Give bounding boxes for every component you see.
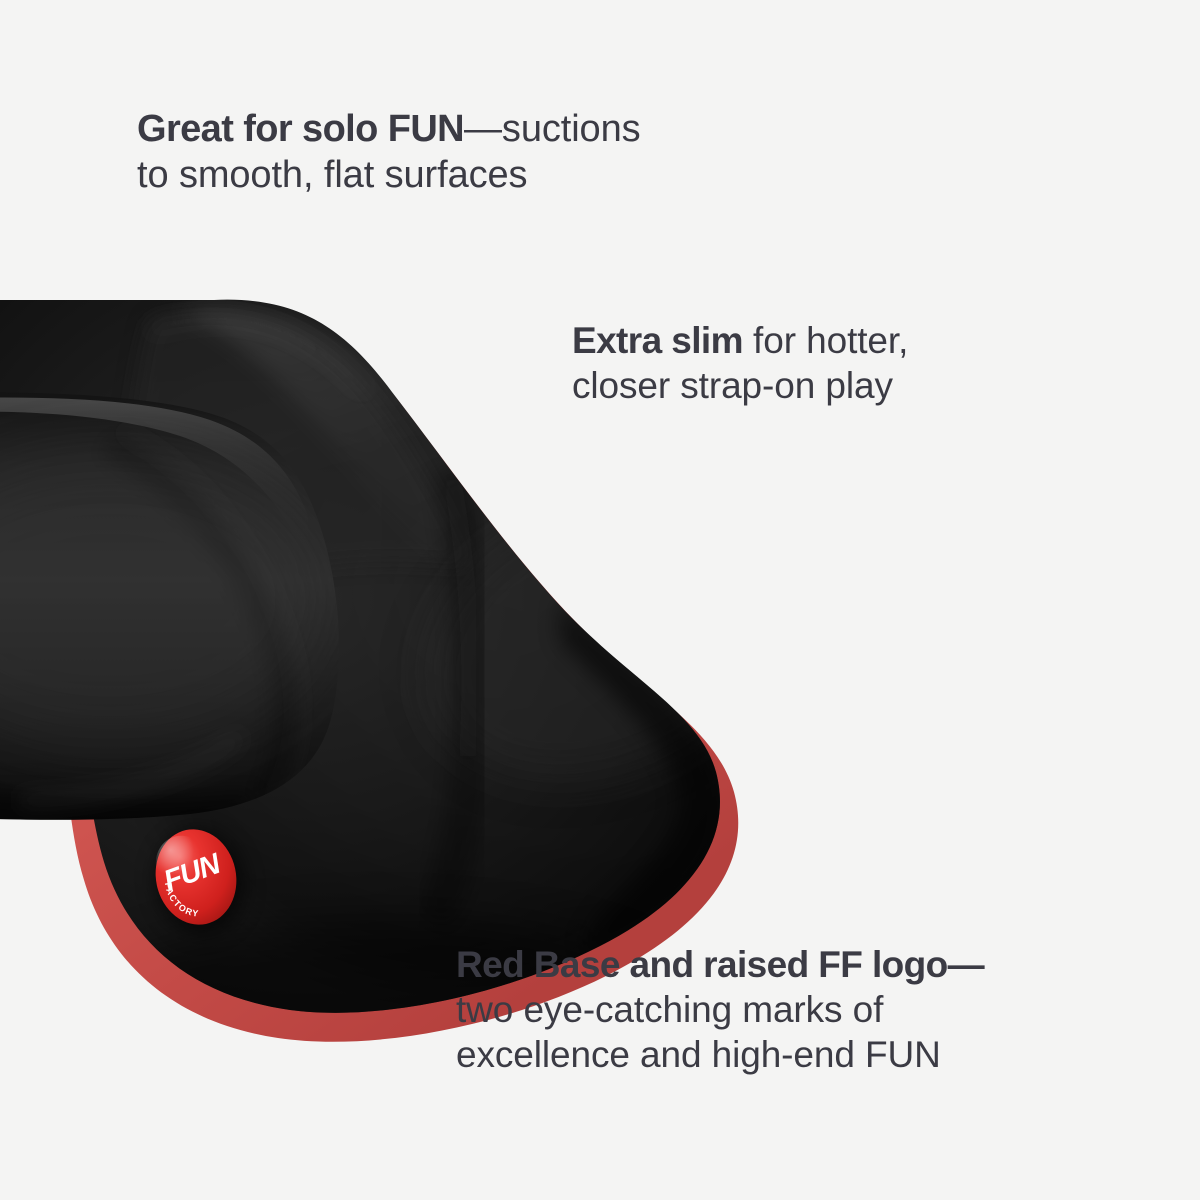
callout-solo-emphasis: Great for solo FUN	[137, 108, 464, 150]
callout-extra-slim: Extra slim for hotter, closer strap-on p…	[572, 318, 908, 408]
callout-logo-line-3: excellence and high-end FUN	[456, 1032, 984, 1077]
callout-solo-line-1-rest: —suctions	[464, 108, 641, 150]
callout-slim-line-2: closer strap-on play	[572, 363, 908, 408]
callout-logo-line-2: two eye-catching marks of	[456, 987, 984, 1032]
callout-solo-fun: Great for solo FUN—suctions to smooth, f…	[137, 106, 641, 199]
callout-solo-line-2: to smooth, flat surfaces	[137, 152, 641, 198]
callout-slim-line-1-rest: for hotter,	[743, 320, 908, 361]
callout-logo-line-1: Red Base and raised FF logo—	[456, 942, 984, 987]
callout-logo-emphasis: Red Base and raised FF logo	[456, 944, 948, 985]
product-infographic: FUN FACTORY Great for solo FUN—suctions …	[0, 0, 1200, 1200]
callout-solo-line-1: Great for solo FUN—suctions	[137, 106, 641, 152]
callout-logo-line-1-dash: —	[948, 944, 984, 985]
callout-red-base-logo: Red Base and raised FF logo— two eye-cat…	[456, 942, 984, 1077]
callout-slim-line-1: Extra slim for hotter,	[572, 318, 908, 363]
callout-slim-emphasis: Extra slim	[572, 320, 743, 361]
